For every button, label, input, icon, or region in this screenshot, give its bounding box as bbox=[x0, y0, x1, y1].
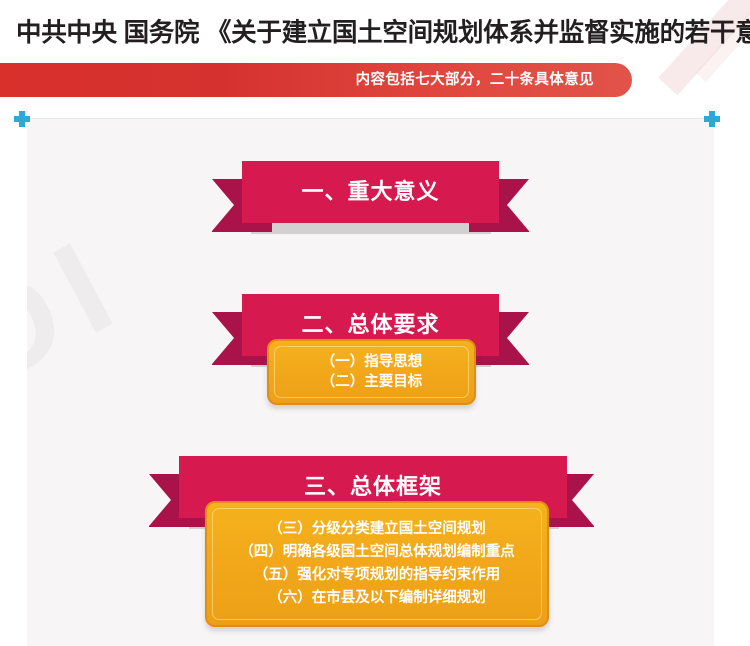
section-3-ribbon: 三、总体框架 （三）分级分类建立国土空间规划 （四）明确各级国土空间总体规划编制… bbox=[27, 449, 714, 646]
list-item: （三）分级分类建立国土空间规划 bbox=[268, 518, 486, 541]
section-2-left-tail-notch bbox=[212, 312, 234, 364]
list-item: （五）强化对专项规划的指导约束作用 bbox=[254, 564, 501, 587]
section-3: 三、总体框架 （三）分级分类建立国土空间规划 （四）明确各级国土空间总体规划编制… bbox=[27, 449, 714, 646]
section-1: 一、重大意义 bbox=[27, 154, 714, 254]
section-2-item-list: （一）指导思想 （二）主要目标 bbox=[269, 341, 474, 403]
infographic-page: 中共中央 国务院 《关于建立国土空间规划体系并监督实施的若干意见》 内容包括七大… bbox=[0, 0, 750, 646]
section-1-ribbon: 一、重大意义 bbox=[27, 154, 714, 254]
subtitle-banner: 内容包括七大部分，二十条具体意见 bbox=[0, 63, 632, 97]
section-1-left-tail-notch bbox=[212, 179, 234, 231]
subtitle-text: 内容包括七大部分，二十条具体意见 bbox=[356, 63, 594, 97]
list-item: （二）主要目标 bbox=[321, 372, 423, 392]
section-1-banner: 一、重大意义 bbox=[242, 161, 499, 223]
section-2: 二、总体要求 （一）指导思想 （二）主要目标 bbox=[27, 287, 714, 417]
corner-marker-left-icon bbox=[14, 111, 30, 127]
list-item: （一）指导思想 bbox=[321, 352, 423, 372]
page-title: 中共中央 国务院 《关于建立国土空间规划体系并监督实施的若干意见》 bbox=[16, 21, 742, 47]
section-2-detail-card: （一）指导思想 （二）主要目标 bbox=[267, 339, 476, 405]
section-3-right-tail-notch bbox=[572, 474, 594, 526]
content-panel: DI 一、重大意义 bbox=[27, 118, 714, 646]
section-3-item-list: （三）分级分类建立国土空间规划 （四）明确各级国土空间总体规划编制重点 （五）强… bbox=[207, 503, 547, 625]
header: 中共中央 国务院 《关于建立国土空间规划体系并监督实施的若干意见》 内容包括七大… bbox=[0, 0, 750, 104]
corner-marker-right-icon bbox=[704, 111, 720, 127]
list-item: （六）在市县及以下编制详细规划 bbox=[268, 587, 486, 610]
section-3-left-tail-notch bbox=[149, 474, 171, 526]
section-3-detail-card: （三）分级分类建立国土空间规划 （四）明确各级国土空间总体规划编制重点 （五）强… bbox=[205, 501, 549, 627]
section-2-ribbon: 二、总体要求 （一）指导思想 （二）主要目标 bbox=[27, 287, 714, 417]
section-1-right-tail-notch bbox=[507, 179, 529, 231]
section-1-heading: 一、重大意义 bbox=[242, 161, 499, 223]
content-panel-inner: DI 一、重大意义 bbox=[27, 119, 714, 646]
section-2-right-tail-notch bbox=[507, 312, 529, 364]
list-item: （四）明确各级国土空间总体规划编制重点 bbox=[239, 541, 515, 564]
